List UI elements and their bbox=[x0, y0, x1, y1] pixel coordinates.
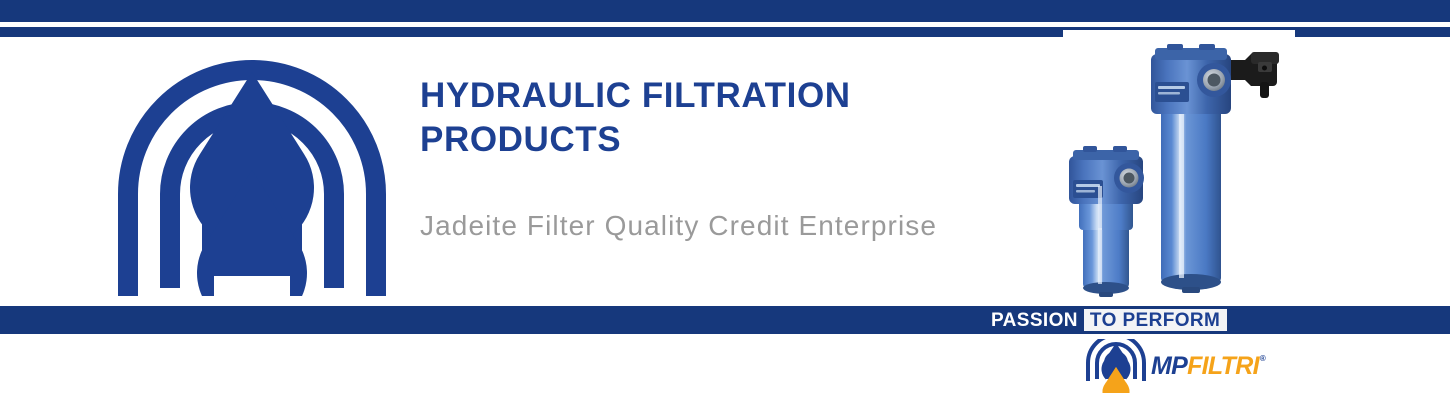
mpfiltri-small-arcs-droplet-icon bbox=[1085, 339, 1147, 393]
registered-trademark-symbol: ® bbox=[1260, 355, 1265, 363]
top-rule-primary bbox=[0, 0, 1450, 22]
mpfiltri-wordmark: MP FILTRI ® bbox=[1151, 354, 1265, 379]
page-title: HYDRAULIC FILTRATION PRODUCTS bbox=[420, 74, 1040, 162]
page-subtitle: Jadeite Filter Quality Credit Enterprise bbox=[420, 210, 937, 242]
wordmark-mp: MP bbox=[1151, 354, 1187, 379]
hydraulic-filter-housings-photo bbox=[1063, 30, 1295, 308]
mpfiltri-logo-lockup: MP FILTRI ® bbox=[1085, 339, 1263, 393]
bottom-rule bbox=[0, 306, 1450, 334]
mpfiltri-arcs-droplet-icon bbox=[118, 44, 386, 296]
headline-block: HYDRAULIC FILTRATION PRODUCTS bbox=[420, 74, 1040, 162]
tagline-word-passion: PASSION bbox=[988, 309, 1081, 331]
tagline-word-to-perform: TO PERFORM bbox=[1084, 309, 1227, 331]
tagline: PASSION TO PERFORM bbox=[988, 309, 1227, 331]
hydraulic-filtration-banner: HYDRAULIC FILTRATION PRODUCTS Jadeite Fi… bbox=[0, 0, 1450, 400]
wordmark-filtri: FILTRI bbox=[1187, 354, 1259, 379]
